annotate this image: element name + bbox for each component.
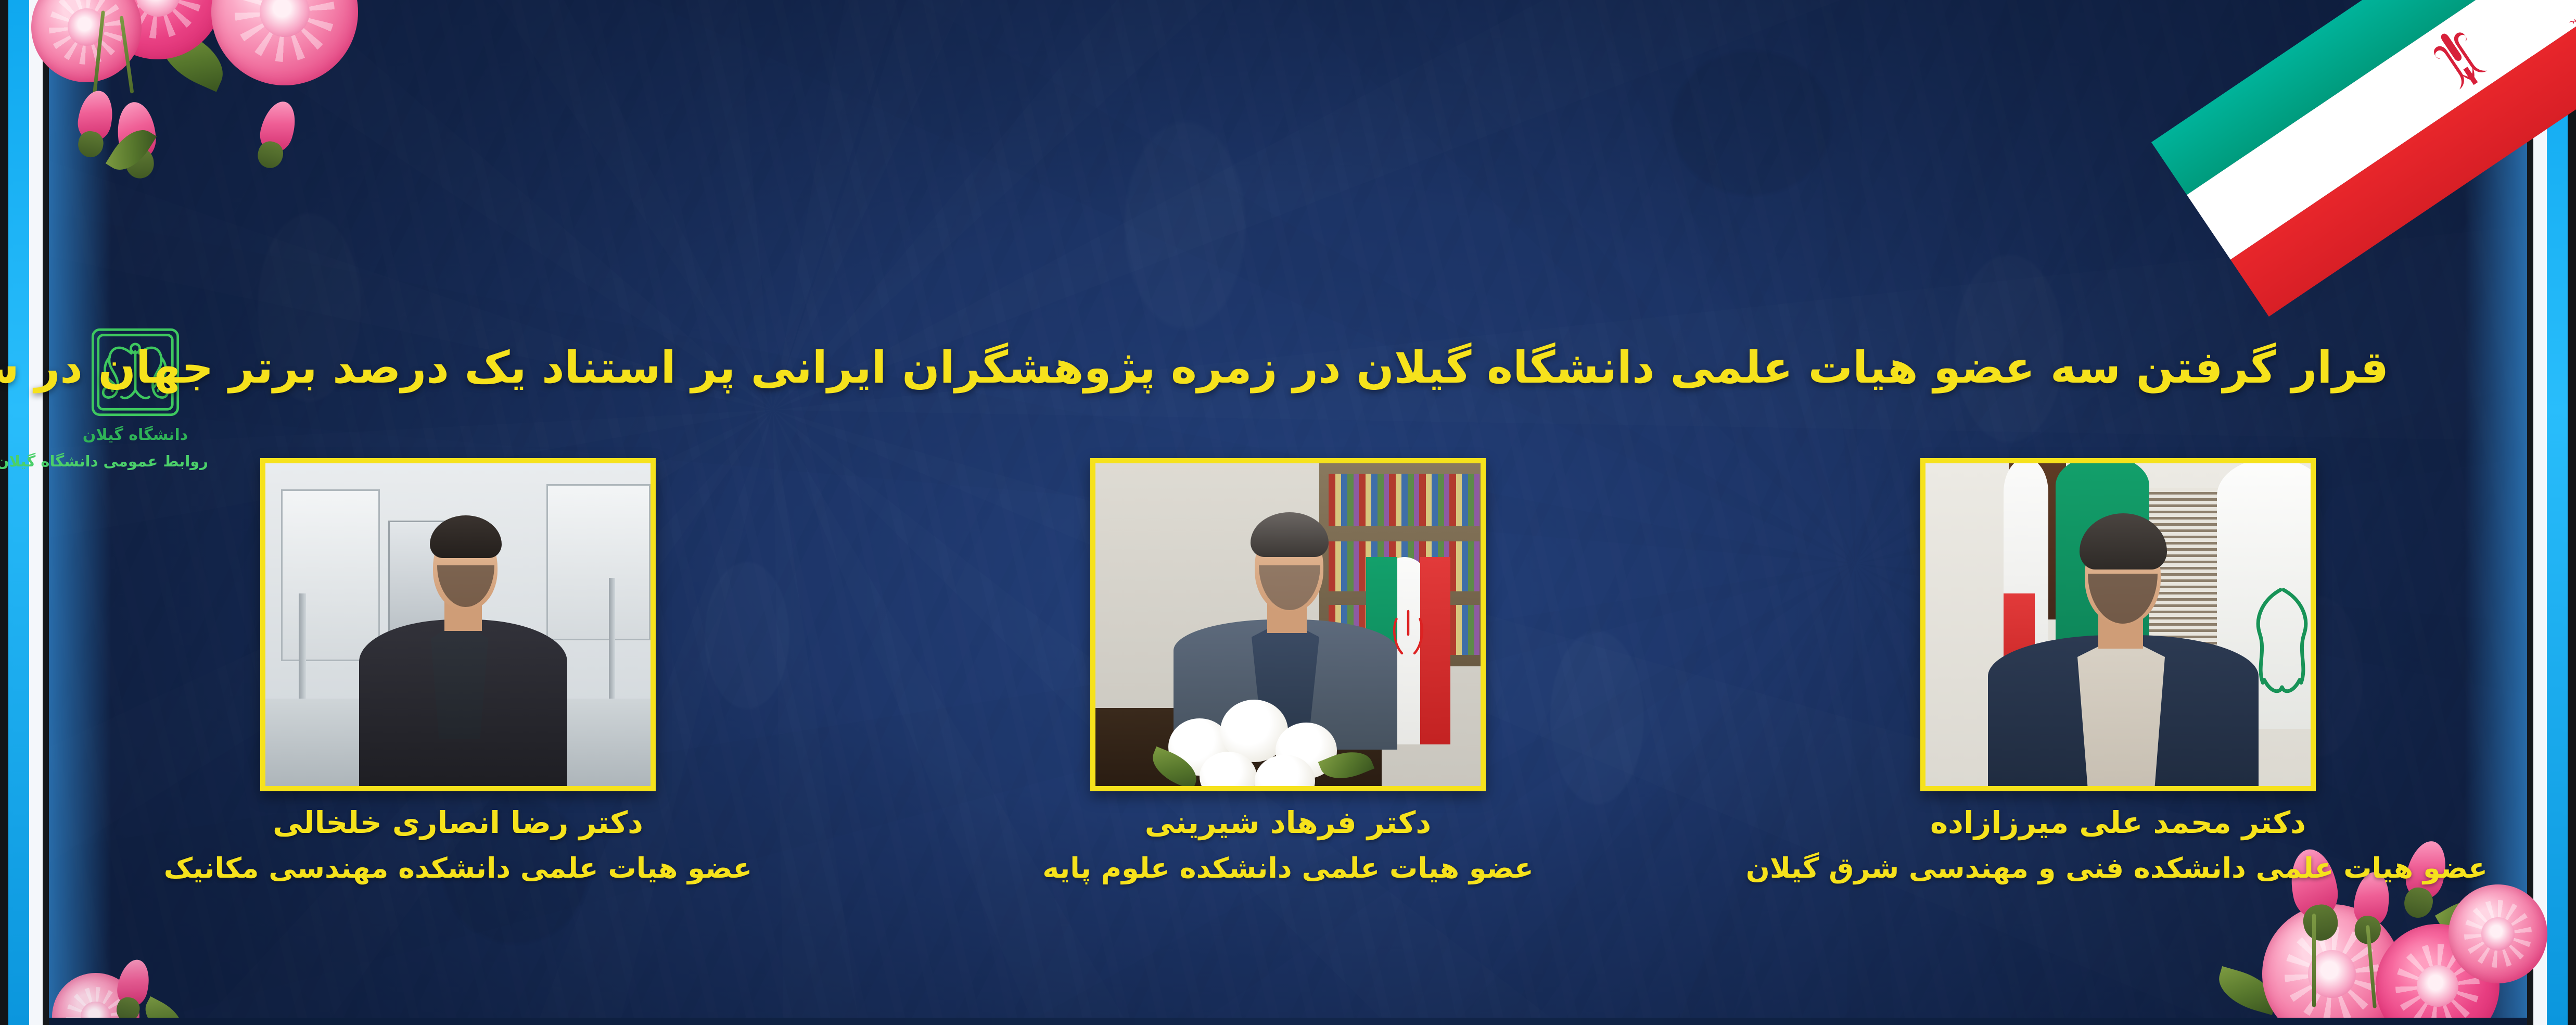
honoree-card: دکتر رضا انصاری خلخالی عضو هیات علمی دان… (88, 458, 827, 884)
honoree-name: دکتر فرهاد شیرینی (919, 805, 1657, 840)
honoree-role: عضو هیات علمی دانشکده مهندسی مکانیک (88, 852, 827, 884)
honoree-role: عضو هیات علمی دانشکده علوم پایه (919, 852, 1657, 884)
lab-cabinet (281, 489, 380, 661)
logo-script-name: دانشگاه گیلان (62, 426, 208, 444)
lab-cabinet (546, 484, 651, 640)
frame-strip-inner-dark-left (43, 0, 49, 1025)
flower-bouquet (1158, 687, 1366, 791)
frame-strip-dark-left (0, 0, 8, 1025)
frame-strip-white-left (29, 0, 43, 1025)
dress-shirt (431, 619, 488, 739)
book-row (1329, 474, 1480, 526)
frame-strip-cyan-left (8, 0, 29, 1025)
honorees-row: دکتر محمد علی میرزازاده عضو هیات علمی دا… (88, 458, 2488, 979)
dress-shirt (2077, 635, 2165, 791)
portrait-reza-ansari-khalkhali (260, 458, 656, 791)
honoree-name: دکتر رضا انصاری خلخالی (88, 805, 827, 840)
honoree-card: دکتر محمد علی میرزازاده عضو هیات علمی دا… (1749, 458, 2488, 884)
honoree-role: عضو هیات علمی دانشکده فنی و مهندسی شرق گ… (1749, 852, 2488, 884)
honoree-name: دکتر محمد علی میرزازاده (1749, 805, 2488, 840)
bottom-bar (49, 1018, 2527, 1025)
portrait-mohammad-ali-mirzazadeh (1920, 458, 2316, 791)
photo-scene (1925, 463, 2311, 786)
page-title: قرار گرفتن سه عضو هیات علمی دانشگاه گیلا… (208, 344, 2389, 393)
honoree-card: دکتر فرهاد شیرینی عضو هیات علمی دانشکده … (919, 458, 1657, 884)
photo-scene (1095, 463, 1481, 786)
portrait-farhad-shirini (1090, 458, 1486, 791)
photo-scene (265, 463, 651, 786)
banner-poster: الله اكبر الله اكبر الله اكبر الله اكبر … (0, 0, 2576, 1025)
